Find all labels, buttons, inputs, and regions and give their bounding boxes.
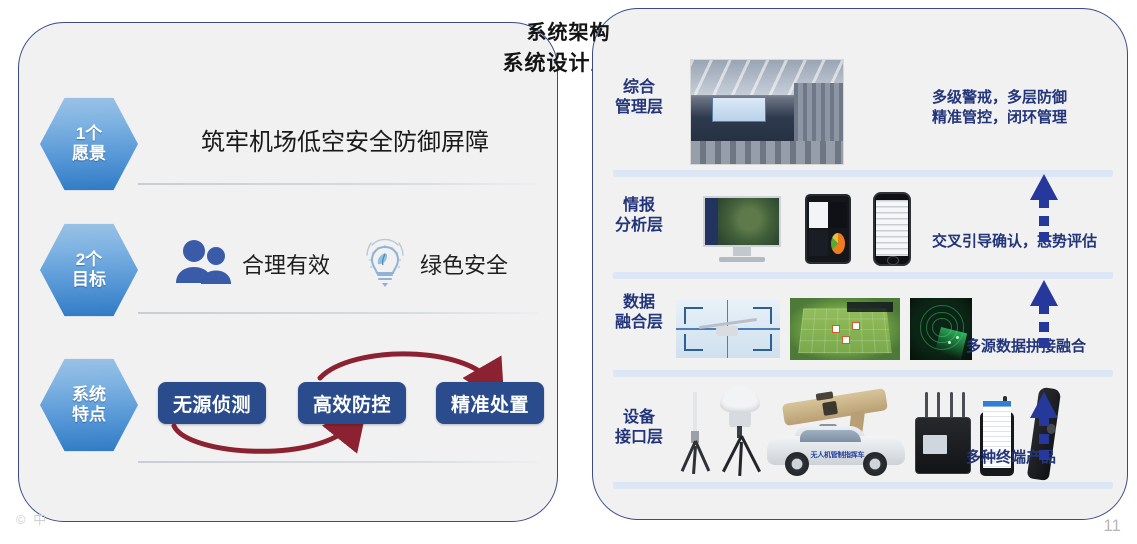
drone-crosshair-photo xyxy=(676,300,780,358)
hexagon-goals-line1: 2个 xyxy=(76,250,102,270)
divider-3 xyxy=(138,461,538,463)
right-divider-4 xyxy=(613,482,1113,489)
patrol-vehicle: 无人机管制指挥车 xyxy=(767,424,905,476)
layer-label-equipment: 设备 接口层 xyxy=(596,408,682,448)
goal-item-2: 绿色安全 xyxy=(356,233,508,296)
portable-case xyxy=(915,392,971,474)
right-panel-title: 系统架构 xyxy=(0,16,1137,45)
layer-note-management-line1: 多级警戒，多层防御 xyxy=(932,88,1112,108)
mast-antenna xyxy=(679,392,709,474)
layer-label-data-fusion: 数据 融合层 xyxy=(596,293,682,333)
tablet xyxy=(805,194,851,264)
feature-pill-1[interactable]: 无源侦测 xyxy=(158,382,266,424)
up-arrow-icon-2 xyxy=(1027,278,1061,366)
goal-label-2: 绿色安全 xyxy=(420,248,508,280)
feature-pill-3[interactable]: 精准处置 xyxy=(436,382,544,424)
layer-label-management-line1: 综合 xyxy=(596,78,682,98)
hexagon-features-line1: 系统 xyxy=(72,385,106,405)
goal-item-1: 合理有效 xyxy=(174,238,330,291)
goals-row: 合理有效 xyxy=(160,228,540,300)
copyright-watermark: © 中 xyxy=(16,509,48,528)
layer-label-equipment-line2: 接口层 xyxy=(596,428,682,448)
layer-note-management-line2: 精准管控，闭环管理 xyxy=(932,108,1112,128)
feature-pill-2[interactable]: 高效防控 xyxy=(298,382,406,424)
layer-label-data-fusion-line2: 融合层 xyxy=(596,313,682,333)
hexagon-features-line2: 特点 xyxy=(72,405,106,425)
radar-scope-photo xyxy=(910,298,972,360)
vision-statement: 筑牢机场低空安全防御屏障 xyxy=(150,122,540,157)
layer-label-intelligence: 情报 分析层 xyxy=(596,196,682,236)
layer-label-data-fusion-line1: 数据 xyxy=(596,293,682,313)
layer-label-equipment-line1: 设备 xyxy=(596,408,682,428)
layer-note-intelligence: 交叉引导确认，态势评估 xyxy=(932,232,1112,252)
desktop-monitor xyxy=(703,196,781,262)
people-icon xyxy=(174,238,236,291)
radar-tripod xyxy=(714,386,766,476)
layer-label-intelligence-line1: 情报 xyxy=(596,196,682,216)
hexagon-vision-line1: 1个 xyxy=(76,124,102,144)
divider-2 xyxy=(138,312,538,314)
vehicle-body-text: 无人机管制指挥车 xyxy=(806,450,869,460)
right-divider-3 xyxy=(613,370,1113,377)
operations-center-photo xyxy=(690,59,844,165)
smartphone xyxy=(873,192,911,266)
up-arrow-icon-1 xyxy=(1027,172,1061,260)
hexagon-goals-line2: 目标 xyxy=(72,270,106,290)
layer-label-management-line2: 管理层 xyxy=(596,98,682,118)
hexagon-vision-line2: 愿景 xyxy=(72,144,106,164)
up-arrow-icon-3 xyxy=(1027,390,1061,478)
lightbulb-leaf-icon xyxy=(356,233,414,296)
layer-note-management: 多级警戒，多层防御 精准管控，闭环管理 xyxy=(932,88,1112,127)
aerial-map-photo xyxy=(790,298,900,360)
page-number: 11 xyxy=(1103,516,1121,536)
layer-label-intelligence-line2: 分析层 xyxy=(596,216,682,236)
divider-1 xyxy=(138,183,538,185)
goal-label-1: 合理有效 xyxy=(242,248,330,280)
layer-label-management: 综合 管理层 xyxy=(596,78,682,118)
